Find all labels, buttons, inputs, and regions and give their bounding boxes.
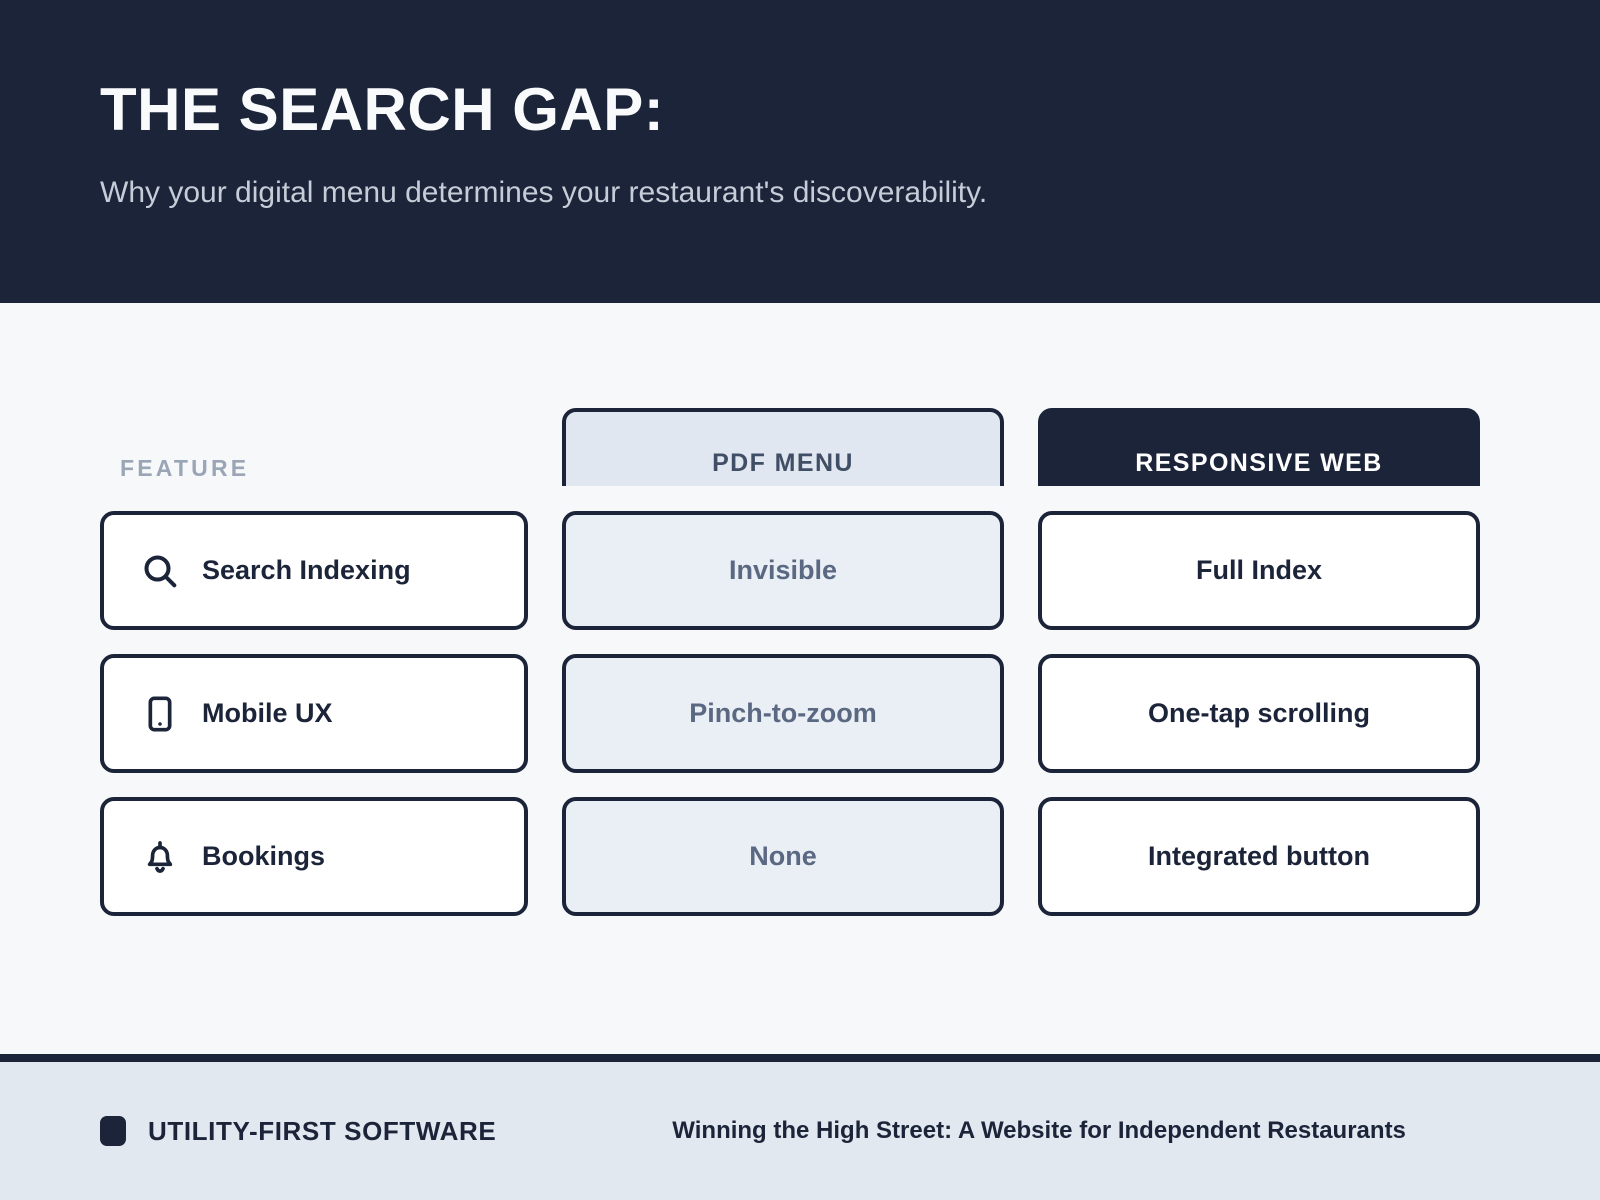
column-header-pdf-wrap: PDF MENU (562, 408, 1004, 486)
web-value-cell[interactable]: One-tap scrolling (1038, 654, 1480, 773)
pdf-value-cell[interactable]: None (562, 797, 1004, 916)
slide-footer: UTILITY-FIRST SOFTWARE Winning the High … (0, 1054, 1600, 1200)
column-header-web-wrap: RESPONSIVE WEB (1038, 408, 1480, 486)
feature-cell-mobile-ux[interactable]: Mobile UX (100, 654, 528, 773)
feature-cell-search-indexing[interactable]: Search Indexing (100, 511, 528, 630)
slide-root: THE SEARCH GAP: Why your digital menu de… (0, 0, 1600, 1200)
bell-icon (140, 837, 180, 877)
slide-header: THE SEARCH GAP: Why your digital menu de… (0, 0, 1600, 303)
pdf-value-cell[interactable]: Pinch-to-zoom (562, 654, 1004, 773)
pdf-value-cell[interactable]: Invisible (562, 511, 1004, 630)
web-value-cell[interactable]: Full Index (1038, 511, 1480, 630)
brand-lockup: UTILITY-FIRST SOFTWARE (100, 1116, 496, 1147)
footer-tagline: Winning the High Street: A Website for I… (672, 1117, 1406, 1145)
feature-label: Bookings (202, 841, 325, 872)
comparison-grid: FEATURE PDF MENU RESPONSIVE WEB (100, 408, 1500, 916)
comparison-header-row: FEATURE PDF MENU RESPONSIVE WEB (100, 408, 1500, 486)
search-icon (140, 551, 180, 591)
column-header-web[interactable]: RESPONSIVE WEB (1038, 408, 1480, 486)
page-subtitle: Why your digital menu determines your re… (100, 175, 1500, 211)
page-title: THE SEARCH GAP: (100, 78, 1500, 141)
smartphone-icon (140, 694, 180, 734)
brand-name: UTILITY-FIRST SOFTWARE (148, 1116, 496, 1147)
table-row: Bookings None Integrated button (100, 797, 1500, 916)
logo-icon (100, 1116, 126, 1146)
column-header-feature: FEATURE (100, 408, 528, 482)
column-header-pdf[interactable]: PDF MENU (562, 408, 1004, 486)
feature-label: Search Indexing (202, 555, 411, 586)
comparison-section: FEATURE PDF MENU RESPONSIVE WEB (0, 303, 1600, 1054)
table-row: Search Indexing Invisible Full Index (100, 511, 1500, 630)
feature-cell-bookings[interactable]: Bookings (100, 797, 528, 916)
feature-label: Mobile UX (202, 698, 333, 729)
table-row: Mobile UX Pinch-to-zoom One-tap scrollin… (100, 654, 1500, 773)
web-value-cell[interactable]: Integrated button (1038, 797, 1480, 916)
